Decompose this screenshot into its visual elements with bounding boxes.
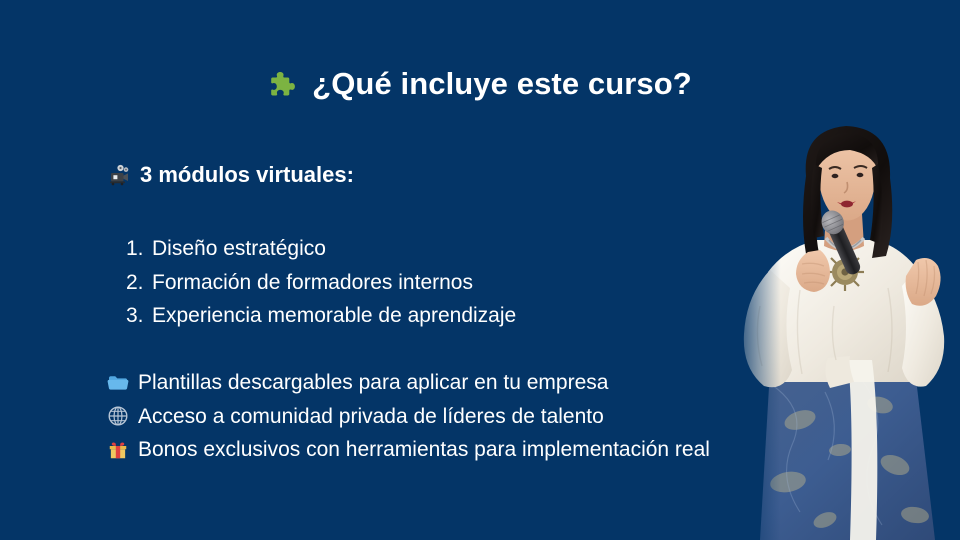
slide-title: ¿Qué incluye este curso?	[0, 68, 960, 99]
list-item: Bonos exclusivos con herramientas para i…	[107, 433, 710, 467]
list-item: 2. Formación de formadores internos	[126, 266, 516, 300]
modules-numbered-list: 1. Diseño estratégico 2. Formación de fo…	[126, 232, 516, 333]
presenter-photo	[730, 120, 960, 540]
gift-icon	[107, 439, 129, 461]
list-item-label: Plantillas descargables para aplicar en …	[138, 372, 608, 393]
globe-icon	[107, 405, 129, 427]
list-item: Acceso a comunidad privada de líderes de…	[107, 400, 710, 434]
list-item-label: Bonos exclusivos con herramientas para i…	[138, 439, 710, 460]
list-item: Plantillas descargables para aplicar en …	[107, 366, 710, 400]
film-projector-icon	[107, 163, 131, 187]
list-item: 3. Experiencia memorable de aprendizaje	[126, 299, 516, 333]
subtitle-row: 3 módulos virtuales:	[107, 163, 354, 187]
slide-canvas: ¿Qué incluye este curso? 3 módulos virtu…	[0, 0, 960, 540]
puzzle-piece-icon	[268, 69, 298, 99]
list-item-index: 1.	[126, 232, 152, 266]
benefits-bullet-list: Plantillas descargables para aplicar en …	[107, 366, 710, 467]
list-item-label: Formación de formadores internos	[152, 266, 473, 300]
folder-icon	[107, 372, 129, 394]
list-item-label: Acceso a comunidad privada de líderes de…	[138, 406, 604, 427]
list-item: 1. Diseño estratégico	[126, 232, 516, 266]
subtitle-text: 3 módulos virtuales:	[140, 164, 354, 186]
list-item-label: Diseño estratégico	[152, 232, 326, 266]
title-text: ¿Qué incluye este curso?	[312, 68, 692, 99]
list-item-index: 2.	[126, 266, 152, 300]
list-item-index: 3.	[126, 299, 152, 333]
list-item-label: Experiencia memorable de aprendizaje	[152, 299, 516, 333]
